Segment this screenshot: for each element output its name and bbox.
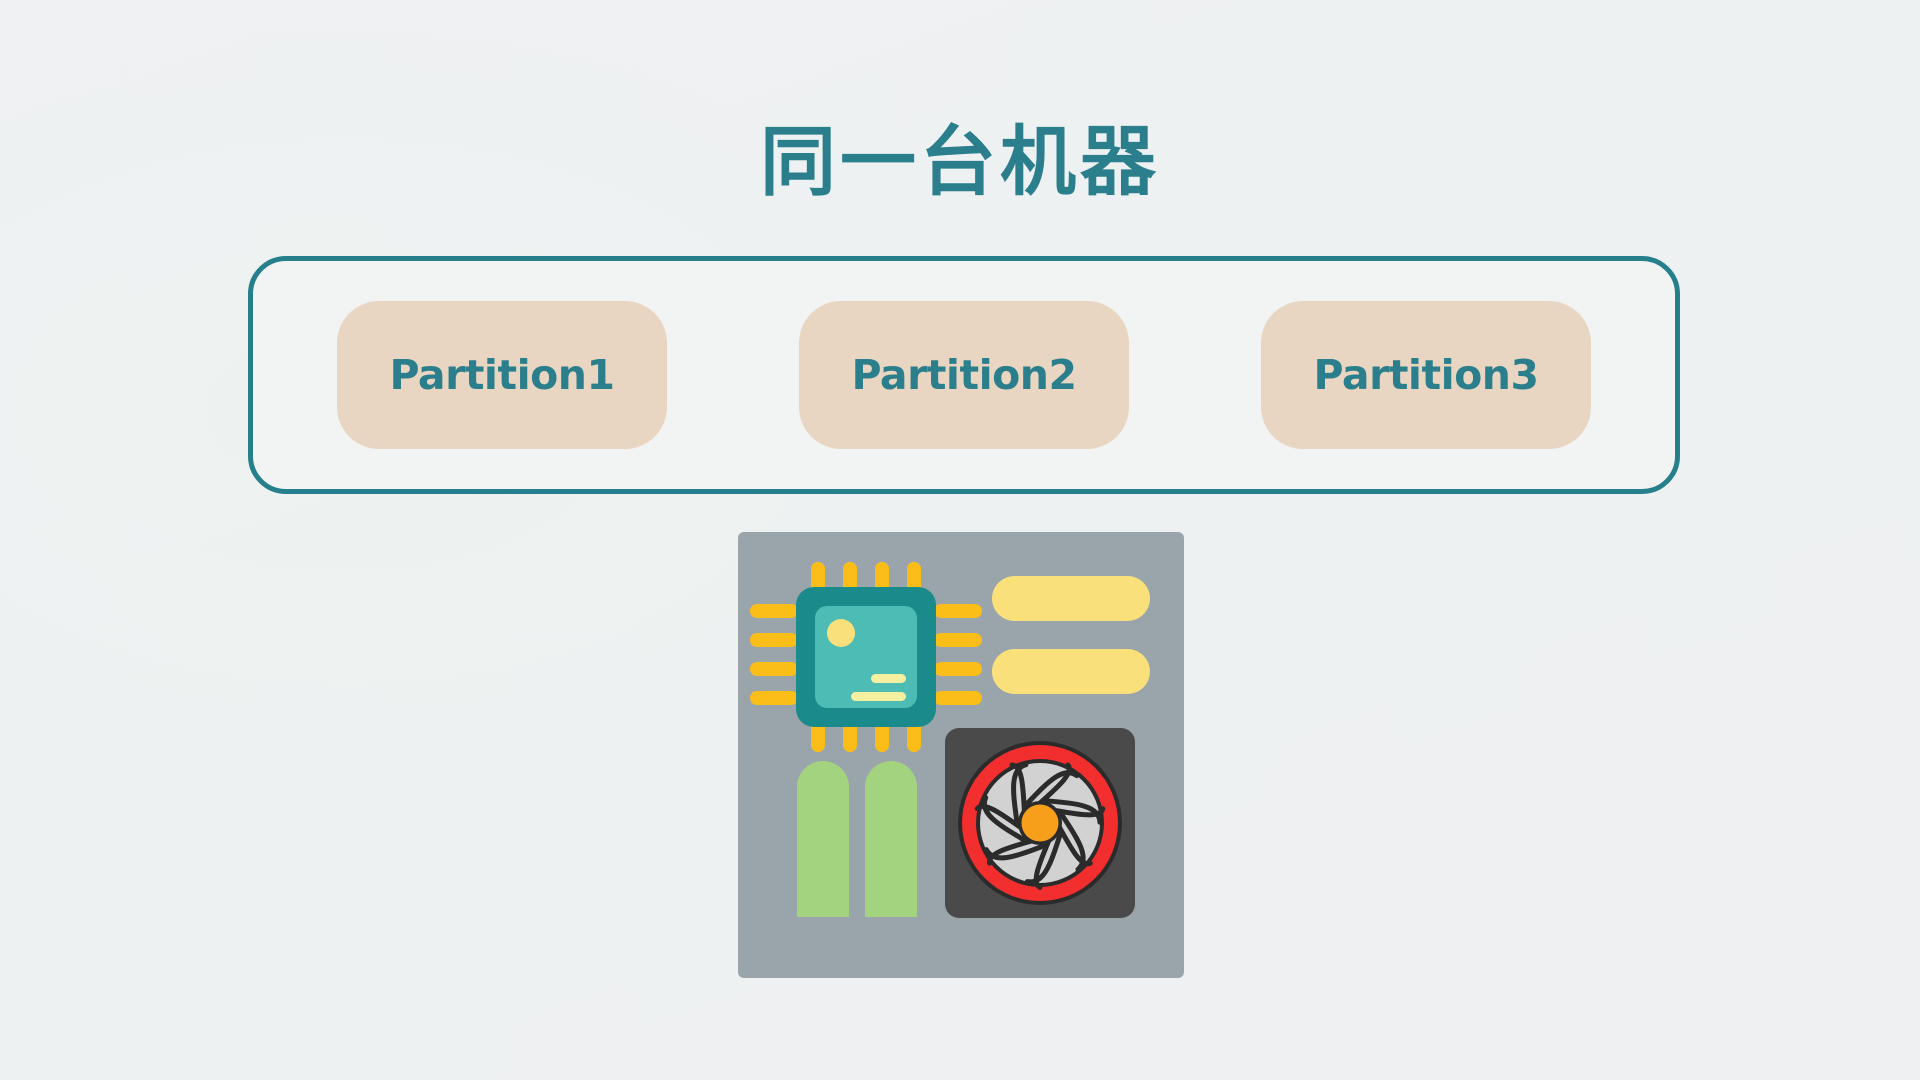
fan-hub	[1022, 805, 1059, 842]
page-title: 同一台机器	[0, 118, 1920, 206]
motherboard-icon	[738, 532, 1184, 978]
cpu-trace-short	[871, 674, 906, 683]
cooling-fan	[958, 741, 1122, 905]
cpu-trace-long	[851, 692, 906, 701]
partition-card-1[interactable]: Partition1	[337, 301, 667, 449]
motherboard-illustration	[738, 532, 1184, 978]
machine-container: Partition1 Partition2 Partition3	[248, 256, 1680, 494]
expansion-slot-2	[865, 761, 917, 917]
ram-stick-2	[992, 649, 1150, 694]
partition-label-2: Partition2	[851, 351, 1076, 399]
partition-label-1: Partition1	[389, 351, 614, 399]
partition-label-3: Partition3	[1313, 351, 1538, 399]
expansion-slot-1	[797, 761, 849, 917]
partition-card-2[interactable]: Partition2	[799, 301, 1129, 449]
partition-card-3[interactable]: Partition3	[1261, 301, 1591, 449]
diagram-canvas: 同一台机器 Partition1 Partition2 Partition3	[0, 0, 1920, 1080]
ram-stick-1	[992, 576, 1150, 621]
cpu-indicator-dot	[827, 619, 855, 647]
